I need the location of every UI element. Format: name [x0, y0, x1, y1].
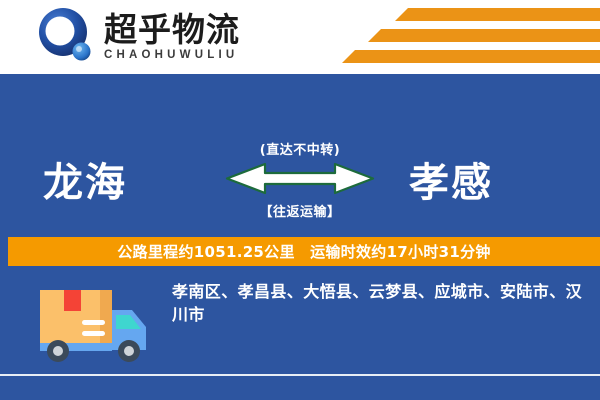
- destination-city: 孝感: [395, 150, 585, 208]
- coverage-areas-text: 孝南区、孝昌县、大悟县、云梦县、应城市、安陆市、汉川市: [172, 280, 586, 326]
- bidirectional-arrow-icon: [225, 162, 375, 196]
- route-row: 龙海 (直达不中转) 【往返运输】 孝感: [0, 124, 600, 234]
- route-note-bottom: 【往返运输】: [259, 201, 340, 220]
- orange-stripes-decoration: [340, 8, 600, 70]
- route-arrow-group: (直达不中转) 【往返运输】: [205, 125, 395, 233]
- bottom-divider: [0, 374, 600, 376]
- logistics-route-poster: 超乎物流 CHAOHUWULIU 龙海 (直达不中转) 【往返运输】 孝感: [0, 0, 600, 400]
- coverage-section: 孝南区、孝昌县、大悟县、云梦县、应城市、安陆市、汉川市: [0, 274, 600, 374]
- stripe-1: [395, 8, 600, 21]
- delivery-truck-icon: [28, 282, 158, 368]
- stripe-3: [342, 50, 600, 63]
- brand-wordmark: 超乎物流 CHAOHUWULIU: [104, 13, 240, 62]
- circle-crescent-logo-icon: [36, 6, 98, 68]
- brand-logo-block[interactable]: 超乎物流 CHAOHUWULIU: [36, 6, 240, 68]
- brand-name-cn: 超乎物流: [104, 13, 240, 48]
- header-bar: 超乎物流 CHAOHUWULIU: [0, 0, 600, 74]
- distance-duration-text: 公路里程约1051.25公里 运输时效约17小时31分钟: [117, 241, 490, 262]
- distance-duration-bar: 公路里程约1051.25公里 运输时效约17小时31分钟: [8, 237, 600, 266]
- origin-city: 龙海: [15, 150, 205, 208]
- brand-name-en: CHAOHUWULIU: [104, 49, 240, 61]
- stripe-2: [368, 29, 600, 42]
- route-note-top: (直达不中转): [260, 139, 340, 158]
- main-panel: 龙海 (直达不中转) 【往返运输】 孝感 公路里程约1051.25公里 运输时效…: [0, 74, 600, 400]
